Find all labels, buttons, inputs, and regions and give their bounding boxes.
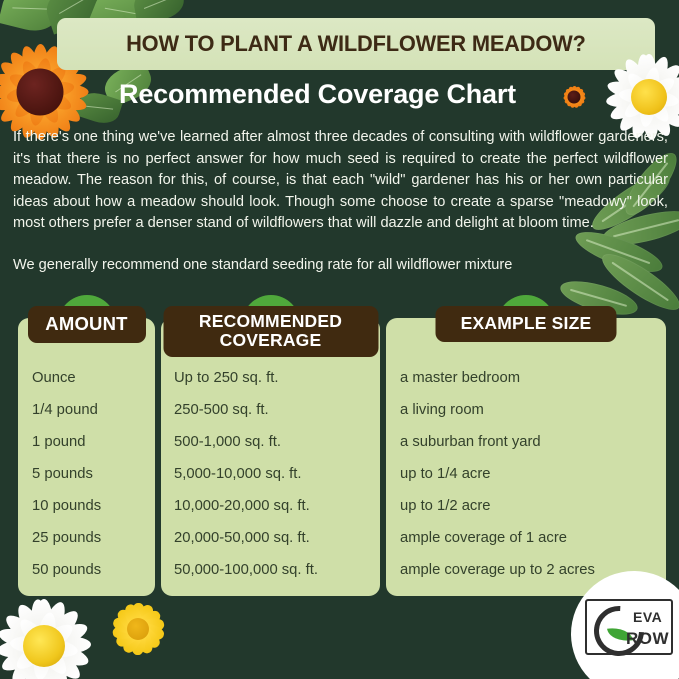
table-cell-coverage: 50,000-100,000 sq. ft. <box>161 554 380 586</box>
table-cell-example: a master bedroom <box>386 362 666 394</box>
table-cell-amount: 1 pound <box>18 426 155 458</box>
table-cell-amount: 1/4 pound <box>18 394 155 426</box>
table-cell-amount: Ounce <box>18 362 155 394</box>
table-column-amount: AMOUNT Ounce 1/4 pound 1 pound 5 pounds … <box>18 318 155 596</box>
yellow-coreopsis-flower-icon <box>97 588 179 670</box>
table-cell-amount: 5 pounds <box>18 458 155 490</box>
poster-title-band: HOW TO PLANT A WILDFLOWER MEADOW? <box>57 18 655 70</box>
coverage-table: AMOUNT Ounce 1/4 pound 1 pound 5 pounds … <box>18 318 666 596</box>
table-column-coverage: RECOMMENDED COVERAGE Up to 250 sq. ft. 2… <box>161 318 380 596</box>
table-cell-coverage: 250-500 sq. ft. <box>161 394 380 426</box>
example-list: a master bedroom a living room a suburba… <box>386 362 666 586</box>
infographic-poster: HOW TO PLANT A WILDFLOWER MEADOW? Recomm… <box>0 0 679 679</box>
table-cell-coverage: Up to 250 sq. ft. <box>161 362 380 394</box>
column-header-example: EXAMPLE SIZE <box>436 306 617 342</box>
paragraph-recommendation: We generally recommend one standard seed… <box>13 255 668 277</box>
table-cell-example: a living room <box>386 394 666 426</box>
eva-grow-logo: EVA ROW <box>585 599 673 655</box>
logo-frame-notch-icon <box>591 597 603 599</box>
table-cell-amount: 25 pounds <box>18 522 155 554</box>
poster-subtitle-text: Recommended Coverage Chart <box>119 79 516 110</box>
table-cell-coverage: 5,000-10,000 sq. ft. <box>161 458 380 490</box>
table-cell-coverage: 500-1,000 sq. ft. <box>161 426 380 458</box>
table-cell-coverage: 20,000-50,000 sq. ft. <box>161 522 380 554</box>
table-cell-example: a suburban front yard <box>386 426 666 458</box>
column-header-amount: AMOUNT <box>28 306 146 343</box>
table-cell-example: up to 1/4 acre <box>386 458 666 490</box>
coverage-list: Up to 250 sq. ft. 250-500 sq. ft. 500-1,… <box>161 362 380 586</box>
amount-list: Ounce 1/4 pound 1 pound 5 pounds 10 poun… <box>18 362 155 586</box>
logo-frame-notch-icon <box>655 655 667 657</box>
logo-word-grow: ROW <box>626 629 669 649</box>
table-column-example: EXAMPLE SIZE a master bedroom a living r… <box>386 318 666 596</box>
logo-word-eva: EVA <box>633 609 662 625</box>
daisy-flower-bottom-icon <box>0 578 112 679</box>
table-cell-coverage: 10,000-20,000 sq. ft. <box>161 490 380 522</box>
paragraph-intro: If there's one thing we've learned after… <box>13 127 668 235</box>
table-cell-example: ample coverage of 1 acre <box>386 522 666 554</box>
table-cell-example: up to 1/2 acre <box>386 490 666 522</box>
body-copy: If there's one thing we've learned after… <box>13 127 668 277</box>
column-header-coverage: RECOMMENDED COVERAGE <box>163 306 378 357</box>
table-cell-amount: 10 pounds <box>18 490 155 522</box>
page-title: HOW TO PLANT A WILDFLOWER MEADOW? <box>126 31 586 57</box>
